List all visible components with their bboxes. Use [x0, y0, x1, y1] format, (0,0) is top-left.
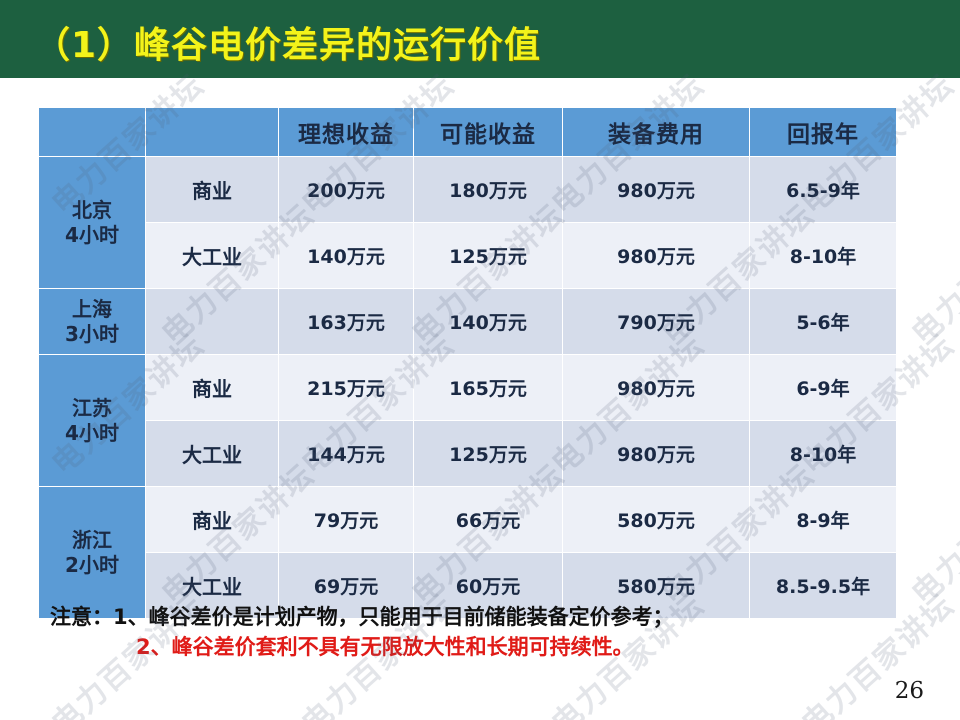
cell-payback-years: 6.5-9年 [750, 157, 896, 222]
region-cell: 北京4小时 [39, 157, 145, 288]
region-name: 上海 [39, 297, 145, 321]
table-header: 理想收益 可能收益 装备费用 回报年 [39, 108, 896, 156]
table-body: 北京4小时商业200万元180万元980万元6.5-9年大工业140万元125万… [39, 157, 896, 618]
table-row: 大工业144万元125万元980万元8-10年 [39, 421, 896, 486]
cell-ideal-revenue: 215万元 [279, 355, 413, 420]
cell-ideal-revenue: 140万元 [279, 223, 413, 288]
cell-payback-years: 8-10年 [750, 421, 896, 486]
table-row: 北京4小时商业200万元180万元980万元6.5-9年 [39, 157, 896, 222]
cell-customer-type: 商业 [146, 355, 278, 420]
region-name: 浙江 [39, 528, 145, 552]
region-cell: 上海3小时 [39, 289, 145, 354]
region-hours: 2小时 [39, 553, 145, 577]
cell-equipment-cost: 980万元 [563, 157, 749, 222]
table-row: 大工业140万元125万元980万元8-10年 [39, 223, 896, 288]
region-cell: 江苏4小时 [39, 355, 145, 486]
cell-customer-type [146, 289, 278, 354]
cell-possible-revenue: 180万元 [414, 157, 562, 222]
cell-equipment-cost: 790万元 [563, 289, 749, 354]
title-banner: （1）峰谷电价差异的运行价值 [0, 0, 960, 78]
header-region [39, 108, 145, 156]
cell-ideal-revenue: 144万元 [279, 421, 413, 486]
header-type [146, 108, 278, 156]
cell-possible-revenue: 66万元 [414, 487, 562, 552]
notes-block: 注意：1、峰谷差价是计划产物，只能用于目前储能装备定价参考； 2、峰谷差价套利不… [50, 602, 674, 663]
region-name: 北京 [39, 198, 145, 222]
cell-equipment-cost: 580万元 [563, 487, 749, 552]
cell-ideal-revenue: 200万元 [279, 157, 413, 222]
cell-equipment-cost: 980万元 [563, 355, 749, 420]
cell-ideal-revenue: 79万元 [279, 487, 413, 552]
cell-customer-type: 大工业 [146, 223, 278, 288]
cell-payback-years: 8.5-9.5年 [750, 553, 896, 618]
cell-possible-revenue: 125万元 [414, 421, 562, 486]
pricing-comparison-table: 理想收益 可能收益 装备费用 回报年 北京4小时商业200万元180万元980万… [38, 107, 897, 619]
region-hours: 4小时 [39, 421, 145, 445]
cell-possible-revenue: 165万元 [414, 355, 562, 420]
cell-equipment-cost: 980万元 [563, 421, 749, 486]
table-header-row: 理想收益 可能收益 装备费用 回报年 [39, 108, 896, 156]
header-payback-years: 回报年 [750, 108, 896, 156]
cell-customer-type: 大工业 [146, 421, 278, 486]
cell-customer-type: 商业 [146, 487, 278, 552]
table-row: 上海3小时163万元140万元790万元5-6年 [39, 289, 896, 354]
region-name: 江苏 [39, 396, 145, 420]
cell-payback-years: 6-9年 [750, 355, 896, 420]
cell-customer-type: 商业 [146, 157, 278, 222]
watermark-text: 电力百家讲坛 [900, 451, 960, 612]
region-cell: 浙江2小时 [39, 487, 145, 618]
table-row: 江苏4小时商业215万元165万元980万元6-9年 [39, 355, 896, 420]
region-hours: 3小时 [39, 322, 145, 346]
cell-payback-years: 8-10年 [750, 223, 896, 288]
cell-ideal-revenue: 163万元 [279, 289, 413, 354]
cell-possible-revenue: 125万元 [414, 223, 562, 288]
note-line-2: 2、峰谷差价套利不具有无限放大性和长期可持续性。 [50, 632, 674, 662]
watermark-text: 电力百家讲坛 [900, 191, 960, 352]
page-title: （1）峰谷电价差异的运行价值 [34, 16, 541, 68]
cell-equipment-cost: 980万元 [563, 223, 749, 288]
header-equipment-cost: 装备费用 [563, 108, 749, 156]
cell-possible-revenue: 140万元 [414, 289, 562, 354]
cell-payback-years: 8-9年 [750, 487, 896, 552]
page-number: 26 [895, 678, 924, 704]
cell-payback-years: 5-6年 [750, 289, 896, 354]
note-line-1: 注意：1、峰谷差价是计划产物，只能用于目前储能装备定价参考； [50, 602, 674, 632]
header-ideal-revenue: 理想收益 [279, 108, 413, 156]
header-possible-revenue: 可能收益 [414, 108, 562, 156]
table-row: 浙江2小时商业79万元66万元580万元8-9年 [39, 487, 896, 552]
region-hours: 4小时 [39, 223, 145, 247]
